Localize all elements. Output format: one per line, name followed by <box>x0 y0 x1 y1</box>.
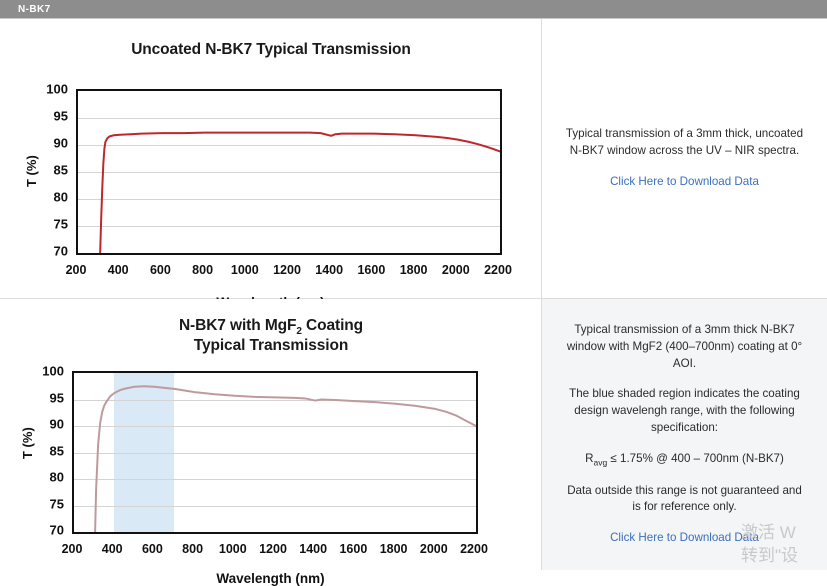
y-tick-label: 95 <box>54 109 68 124</box>
y-tick-label: 70 <box>50 523 64 538</box>
spec-reflectance: Ravg ≤ 1.75% @ 400 – 700nm (N-BK7) <box>564 451 805 469</box>
x-tick-label: 1200 <box>273 263 301 277</box>
chart-title-coated: N-BK7 with MgF2 Coating Typical Transmis… <box>0 317 542 355</box>
plot-box-coated <box>72 371 478 534</box>
x-tick-label: 2200 <box>460 542 488 556</box>
y-tick-label: 90 <box>54 136 68 151</box>
x-tick-label: 400 <box>108 263 129 277</box>
y-axis-label-coated: T (%) <box>20 427 35 459</box>
chart-title-coated-line1-suffix: Coating <box>302 317 363 334</box>
x-tick-label: 200 <box>62 542 83 556</box>
x-tick-label: 2200 <box>484 263 512 277</box>
description-panel-coated: Typical transmission of a 3mm thick N-BK… <box>542 299 827 570</box>
data-series-line <box>99 133 500 253</box>
x-tick-label: 1800 <box>380 542 408 556</box>
x-tick-label: 1000 <box>231 263 259 277</box>
description-panel-uncoated: Typical transmission of a 3mm thick, unc… <box>542 19 827 299</box>
x-tick-label: 200 <box>66 263 87 277</box>
x-tick-label: 1800 <box>400 263 428 277</box>
tab-n-bk7[interactable]: N-BK7 <box>0 4 51 15</box>
plot-box-uncoated <box>76 89 502 255</box>
y-tick-label: 80 <box>50 470 64 485</box>
chart-title-coated-line2: Typical Transmission <box>194 337 349 354</box>
y-tick-label: 100 <box>46 82 68 97</box>
description-text-coated-2: The blue shaded region indicates the coa… <box>564 386 805 436</box>
x-axis-label-coated: Wavelength (nm) <box>0 571 541 586</box>
x-tick-label: 1600 <box>357 263 385 277</box>
chart-title-uncoated: Uncoated N-BK7 Typical Transmission <box>0 41 542 58</box>
x-tick-label: 1000 <box>219 542 247 556</box>
y-tick-label: 85 <box>54 163 68 178</box>
y-tick-label: 90 <box>50 417 64 432</box>
x-tick-label: 1400 <box>315 263 343 277</box>
description-text-coated-3: Data outside this range is not guarantee… <box>564 483 805 517</box>
download-data-link-coated[interactable]: Click Here to Download Data <box>610 531 759 544</box>
watermark-line-2: 转到"设 <box>741 545 827 568</box>
x-tick-label: 800 <box>192 263 213 277</box>
curve-layer <box>74 373 476 532</box>
download-data-link-uncoated[interactable]: Click Here to Download Data <box>610 175 759 188</box>
x-tick-label: 1400 <box>299 542 327 556</box>
data-series-line <box>94 386 476 532</box>
y-tick-label: 100 <box>42 364 64 379</box>
description-text-coated-1: Typical transmission of a 3mm thick N-BK… <box>564 322 805 372</box>
x-tick-label: 800 <box>182 542 203 556</box>
y-tick-label: 75 <box>54 217 68 232</box>
content-grid: Uncoated N-BK7 Typical Transmission T (%… <box>0 19 827 570</box>
y-tick-label: 80 <box>54 190 68 205</box>
y-axis-label-uncoated: T (%) <box>24 155 39 187</box>
chart-panel-uncoated: Uncoated N-BK7 Typical Transmission T (%… <box>0 19 542 299</box>
window-tabbar: N-BK7 <box>0 0 827 19</box>
spec-subscript: avg <box>593 457 607 467</box>
x-tick-label: 600 <box>150 263 171 277</box>
y-tick-label: 75 <box>50 496 64 511</box>
y-tick-label: 85 <box>50 443 64 458</box>
chart-panel-coated: N-BK7 with MgF2 Coating Typical Transmis… <box>0 299 542 570</box>
x-tick-label: 600 <box>142 542 163 556</box>
x-tick-label: 2000 <box>420 542 448 556</box>
x-tick-label: 400 <box>102 542 123 556</box>
x-tick-label: 1600 <box>339 542 367 556</box>
y-tick-label: 70 <box>54 244 68 259</box>
curve-layer <box>78 91 500 253</box>
x-tick-label: 1200 <box>259 542 287 556</box>
chart-title-coated-line1-prefix: N-BK7 with MgF <box>179 317 296 334</box>
description-text-uncoated: Typical transmission of a 3mm thick, unc… <box>564 126 805 160</box>
y-tick-label: 95 <box>50 390 64 405</box>
spec-rest: ≤ 1.75% @ 400 – 700nm (N-BK7) <box>607 452 784 465</box>
x-tick-label: 2000 <box>442 263 470 277</box>
